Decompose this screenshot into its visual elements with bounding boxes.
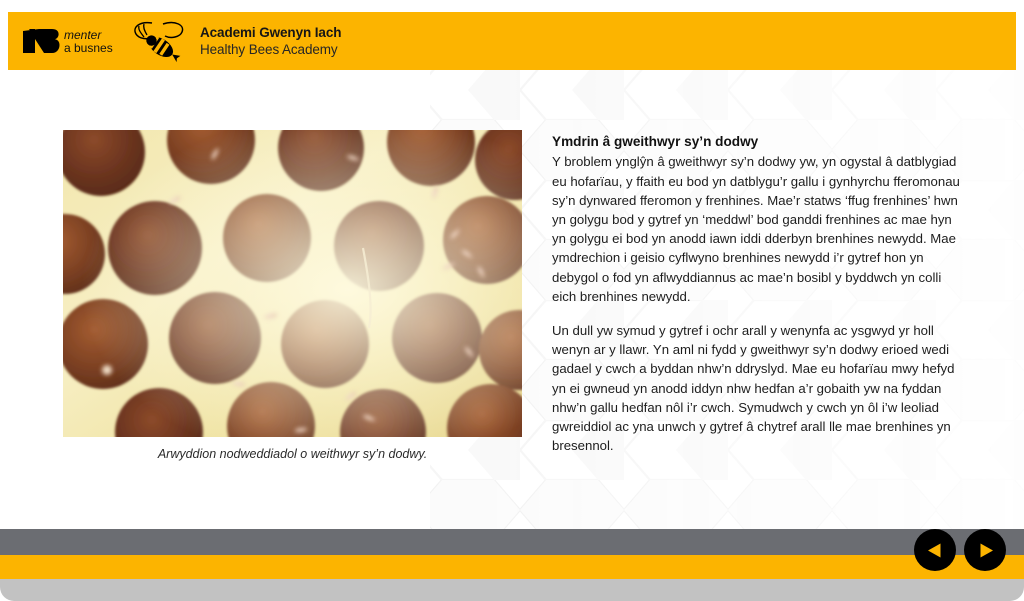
text-column: Ymdrin â gweithwyr sy’n dodwy Y broblem … [552, 132, 964, 455]
brand-title-welsh: Academi Gwenyn Iach [200, 24, 341, 41]
figure-caption: Arwyddion nodweddiadol o weithwyr sy’n d… [63, 446, 522, 462]
bee-icon [130, 19, 188, 63]
section-heading: Ymdrin â gweithwyr sy’n dodwy [552, 132, 964, 151]
logo-block: menter a busnes [22, 19, 341, 63]
figure-block: Arwyddion nodweddiadol o weithwyr sy’n d… [63, 130, 522, 462]
menter-a-busnes-wordmark: menter a busnes [64, 27, 120, 55]
next-slide-button[interactable] [964, 529, 1006, 571]
triangle-left-icon [925, 540, 946, 561]
honeycomb-cells-with-eggs-photo [63, 130, 522, 437]
page-footer [0, 521, 1024, 601]
footer-band-light [0, 579, 1024, 601]
page-header: menter a busnes [8, 12, 1016, 70]
brand-title-english: Healthy Bees Academy [200, 41, 341, 58]
brand-text-block: Academi Gwenyn Iach Healthy Bees Academy [200, 24, 341, 59]
triangle-right-icon [975, 540, 996, 561]
previous-slide-button[interactable] [914, 529, 956, 571]
body-paragraph-1: Y broblem ynglŷn â gweithwyr sy’n dodwy … [552, 152, 964, 306]
slide-content: Arwyddion nodweddiadol o weithwyr sy’n d… [0, 70, 1024, 520]
footer-band-dark [0, 529, 1024, 555]
slide-container: menter a busnes [0, 0, 1024, 601]
svg-text:menter: menter [64, 28, 102, 42]
body-paragraph-2: Un dull yw symud y gytref i ochr arall y… [552, 321, 964, 455]
svg-text:a busnes: a busnes [64, 41, 113, 55]
navigation-controls [914, 529, 1006, 571]
menter-a-busnes-mark [22, 28, 60, 54]
footer-band-amber [0, 555, 1024, 579]
